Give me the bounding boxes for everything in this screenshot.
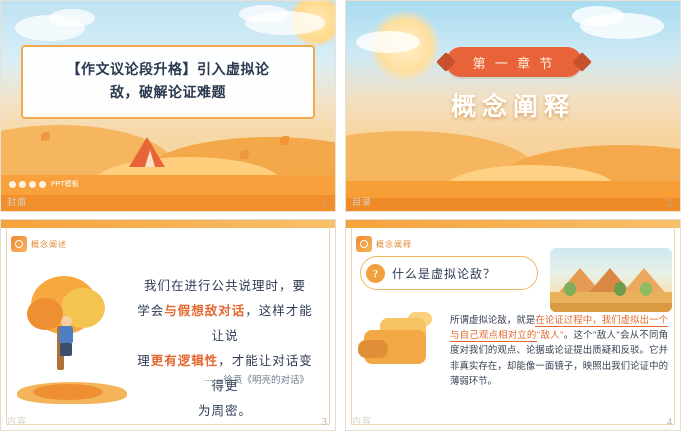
person-illustration xyxy=(57,316,75,356)
leaf-icon xyxy=(240,150,249,159)
section-tag: 概念阐述 xyxy=(11,236,67,252)
slide-number: 3 xyxy=(322,416,328,428)
quote-line-2-highlight: 与假想敌对话 xyxy=(164,304,245,318)
body-part-b: 。 xyxy=(564,331,574,341)
slide-title-line-1: 【作文议论段升格】引入虚拟论 xyxy=(37,59,299,82)
slide-1[interactable]: 【作文议论段升格】引入虚拟论 敌，破解论证难题 PPT模板 封面 1 xyxy=(0,0,336,212)
section-tag-label: 概念阐述 xyxy=(31,239,67,250)
question-text: 什么是虚拟论敌？ xyxy=(392,265,496,282)
section-tag: 概念阐释 xyxy=(356,236,412,252)
slide-corner-label: 目录 xyxy=(352,195,372,208)
slide-corner-label: 内容 xyxy=(352,414,372,427)
watermark-logo: PPT模板 xyxy=(9,179,79,189)
leaf-icon xyxy=(280,136,289,145)
leaf-icon xyxy=(41,132,50,141)
cloud-icon xyxy=(239,5,289,23)
quote-line-3-highlight: 更有逻辑性 xyxy=(151,354,219,368)
tent-door-icon xyxy=(145,150,155,167)
quote-line-3-part-a: 理 xyxy=(137,354,151,368)
slide-deck: 【作文议论段升格】引入虚拟论 敌，破解论证难题 PPT模板 封面 1 第 一 章… xyxy=(0,0,681,431)
quote-source: ——徐贲《明亮的对话》 xyxy=(204,372,309,386)
chapter-label: 第 一 章 节 xyxy=(473,53,556,72)
body-paragraph: 所谓虚拟论敌，就是在论证过程中，我们虚拟出一个与自己观点相对立的"敌人"。这个"… xyxy=(450,314,668,390)
question-row: ? 什么是虚拟论敌？ xyxy=(366,264,496,283)
landscape-picture xyxy=(550,248,672,312)
hills-illustration xyxy=(346,119,680,211)
slide-number: 4 xyxy=(667,416,673,428)
quote-block: 我们在进行公共说理时，要 学会与假想敌对话，这样才能让说 理更有逻辑性，才能让对… xyxy=(133,274,317,424)
body-underline-1: 在论证过程中，我们 xyxy=(535,316,620,327)
body-part-a: 所谓虚拟论敌，就是 xyxy=(450,316,535,326)
question-mark-icon: ? xyxy=(366,264,385,283)
slide-number: 2 xyxy=(667,197,673,209)
seal-icon xyxy=(356,236,372,252)
leaf-pile-illustration xyxy=(33,384,103,400)
seal-icon xyxy=(11,236,27,252)
cloud-icon xyxy=(49,9,95,27)
quote-line-1: 我们在进行公共说理时，要 xyxy=(144,279,306,293)
body-highlight: "敌人" xyxy=(537,331,564,341)
slide-title-line-2: 敌，破解论证难题 xyxy=(37,82,299,105)
chapter-title: 概念阐释 xyxy=(346,87,680,123)
cloud-icon xyxy=(572,6,624,26)
slide-top-accent-bar xyxy=(1,220,335,228)
slide-2[interactable]: 第 一 章 节 概念阐释 目录 2 xyxy=(345,0,681,212)
section-tag-label: 概念阐释 xyxy=(376,239,412,250)
quote-line-2-part-a: 学会 xyxy=(137,304,164,318)
slide-corner-label: 内容 xyxy=(7,414,27,427)
leaf-icon xyxy=(75,144,84,153)
rock-illustration xyxy=(358,306,444,372)
hills-illustration xyxy=(1,115,335,211)
chapter-ribbon: 第 一 章 节 xyxy=(446,47,582,77)
slide-3[interactable]: 概念阐述 我们在进行公共说理时，要 学会与假想敌对话，这样才能让说 理更有逻辑性… xyxy=(0,219,336,431)
watermark-text: PPT模板 xyxy=(51,179,79,189)
slide-4[interactable]: 概念阐释 ? 什么是虚拟论敌？ 所谓虚拟论敌，就是在论证过程中，我们虚拟出一个与… xyxy=(345,219,681,431)
cloud-icon xyxy=(356,31,420,53)
quote-line-4: 为周密。 xyxy=(198,404,252,418)
slide-top-accent-bar xyxy=(346,220,680,228)
slide-number: 1 xyxy=(322,197,328,209)
slide-title-card: 【作文议论段升格】引入虚拟论 敌，破解论证难题 xyxy=(21,45,315,119)
slide-corner-label: 封面 xyxy=(7,195,27,208)
